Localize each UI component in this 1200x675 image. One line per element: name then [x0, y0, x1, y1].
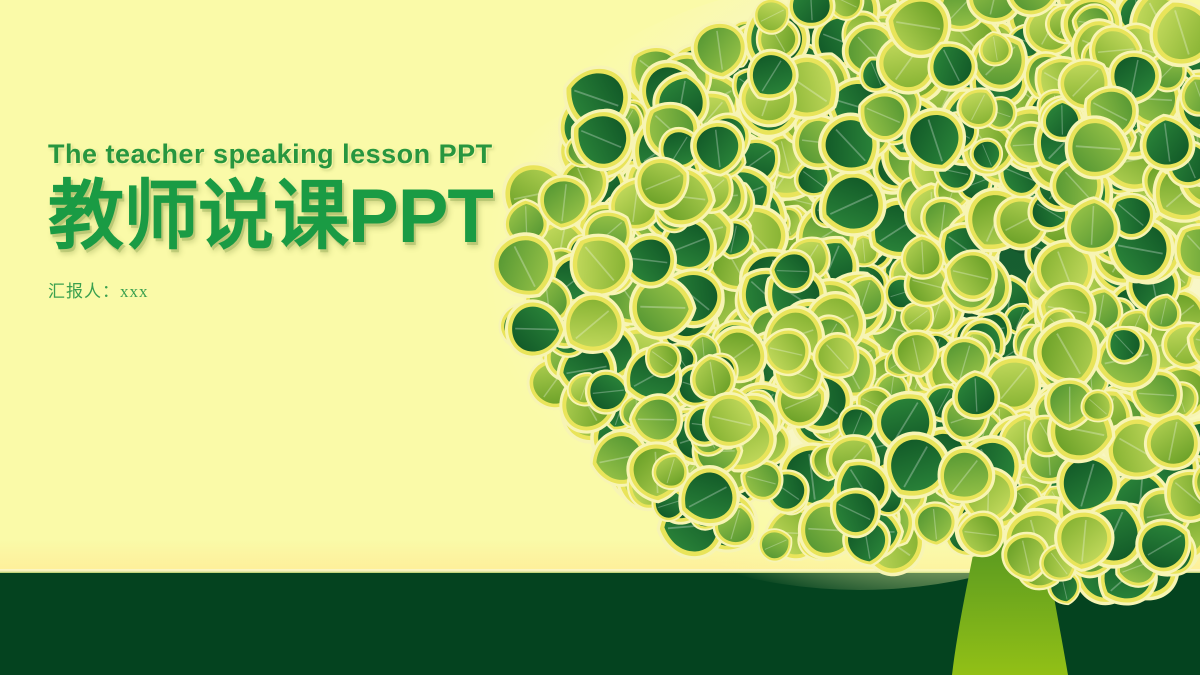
- title-block: The teacher speaking lesson PPT 教师说课PPT …: [48, 140, 493, 302]
- presenter-line: 汇报人：xxx: [48, 277, 493, 302]
- tree-illustration: [0, 0, 1200, 675]
- chinese-title: 教师说课PPT: [48, 174, 493, 259]
- presentation-slide: The teacher speaking lesson PPT 教师说课PPT …: [0, 0, 1200, 675]
- english-title: The teacher speaking lesson PPT: [48, 140, 493, 170]
